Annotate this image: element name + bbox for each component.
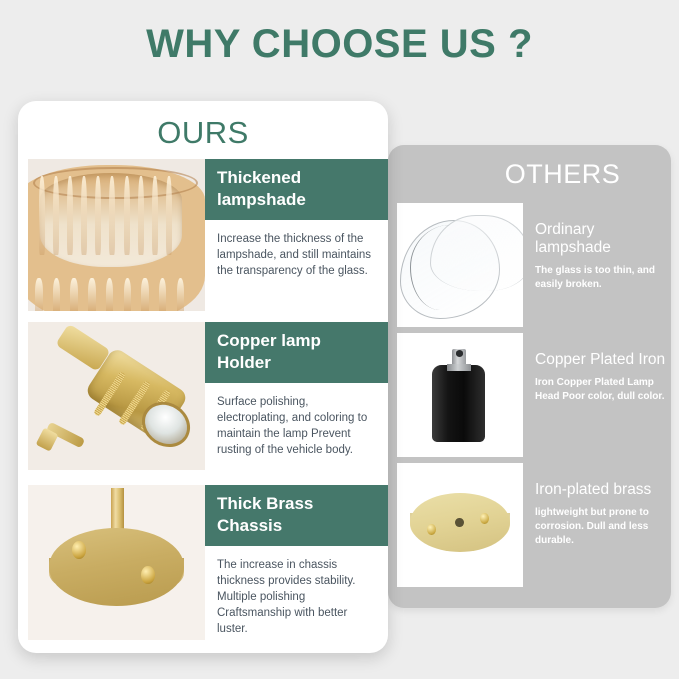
brass-chassis-photo xyxy=(28,485,205,640)
glass-lower-rib xyxy=(141,278,148,311)
glass-lower-rib xyxy=(88,278,95,311)
glass-lower-rib xyxy=(159,278,166,311)
others-card: OTHERS Ordinary lampshade The glass is t… xyxy=(388,145,671,608)
others-feature-description: lightweight but prone to corrosion. Dull… xyxy=(535,506,671,548)
glass-rib xyxy=(138,176,144,255)
ours-feature-text: Copper lamp Holder Surface polishing, el… xyxy=(205,322,388,470)
glass-rib xyxy=(39,176,45,255)
brass-lamp-holder-photo xyxy=(28,322,205,470)
glass-rib xyxy=(124,176,130,255)
amber-glass-illustration xyxy=(28,159,205,311)
ours-feature-row: Thickened lampshade Increase the thickne… xyxy=(28,159,388,311)
ours-feature-row: Thick Brass Chassis The increase in chas… xyxy=(28,485,388,640)
glass-rib xyxy=(81,176,87,255)
others-feature-description: Iron Copper Plated Lamp Head Poor color,… xyxy=(535,376,671,404)
glass-lower-rib xyxy=(53,278,60,311)
ours-feature-title: Copper lamp Holder xyxy=(205,322,388,383)
glass-rib xyxy=(152,176,158,255)
glass-rib xyxy=(67,176,73,255)
others-feature-row: Copper Plated Iron Iron Copper Plated La… xyxy=(397,333,671,457)
others-feature-row: Ordinary lampshade The glass is too thin… xyxy=(397,203,671,327)
ours-feature-description: Surface polishing, electroplating, and c… xyxy=(205,383,388,458)
brass-chassis-illustration xyxy=(28,485,205,640)
glass-rib xyxy=(53,176,59,255)
ours-feature-row: Copper lamp Holder Surface polishing, el… xyxy=(28,322,388,470)
others-feature-text: Copper Plated Iron Iron Copper Plated La… xyxy=(523,333,671,404)
ours-feature-title: Thick Brass Chassis xyxy=(205,485,388,546)
plate-center-hole xyxy=(455,518,464,528)
others-feature-title: Ordinary lampshade xyxy=(535,221,671,257)
glass-lower-rib xyxy=(70,278,77,311)
glass-lower-rib xyxy=(106,278,113,311)
others-feature-text: Iron-plated brass lightweight but prone … xyxy=(523,463,671,548)
chassis-top-disc xyxy=(49,528,184,606)
brass-holder-illustration xyxy=(28,322,205,470)
ours-card: OURS xyxy=(18,101,388,653)
others-heading: OTHERS xyxy=(388,159,671,190)
brass-plate-illustration xyxy=(397,463,523,587)
socket-body xyxy=(432,365,485,442)
ours-feature-text: Thick Brass Chassis The increase in chas… xyxy=(205,485,388,640)
black-copper-plated-iron-socket-photo xyxy=(397,333,523,457)
glass-rib xyxy=(95,176,101,255)
others-feature-title: Copper Plated Iron xyxy=(535,351,671,369)
ours-feature-description: The increase in chassis thickness provid… xyxy=(205,546,388,637)
others-feature-row: Iron-plated brass lightweight but prone … xyxy=(397,463,671,587)
others-feature-text: Ordinary lampshade The glass is too thin… xyxy=(523,203,671,292)
clear-glass-dome-illustration xyxy=(397,203,523,327)
glass-lower-rib xyxy=(124,278,131,311)
page-title: WHY CHOOSE US ? xyxy=(0,22,679,67)
glass-rib xyxy=(166,176,172,255)
ours-feature-description: Increase the thickness of the lampshade,… xyxy=(205,220,388,279)
socket-hole xyxy=(456,350,464,356)
socket-nut xyxy=(447,364,471,371)
plate-screw xyxy=(480,513,489,524)
glass-lower-rib xyxy=(177,278,184,311)
black-socket-illustration xyxy=(397,333,523,457)
dome-edge-line xyxy=(410,225,477,309)
others-feature-description: The glass is too thin, and easily broken… xyxy=(535,264,671,292)
clear-thin-glass-dome-photo xyxy=(397,203,523,327)
ours-heading: OURS xyxy=(18,115,388,151)
ours-feature-title: Thickened lampshade xyxy=(205,159,388,220)
glass-lower-rib xyxy=(35,278,42,311)
plate-screw xyxy=(427,524,436,535)
ribbed-amber-glass-lampshade-photo xyxy=(28,159,205,311)
iron-plated-brass-plate-photo xyxy=(397,463,523,587)
ours-feature-text: Thickened lampshade Increase the thickne… xyxy=(205,159,388,311)
others-feature-title: Iron-plated brass xyxy=(535,481,671,499)
